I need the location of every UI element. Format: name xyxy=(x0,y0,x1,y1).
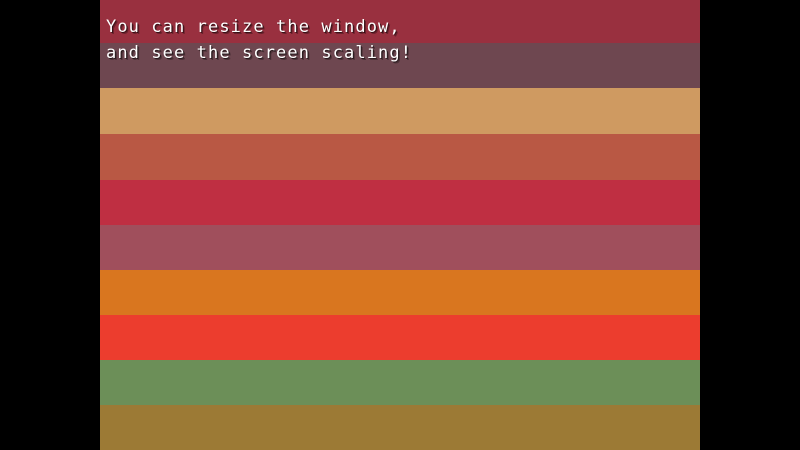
band-crimson xyxy=(100,180,700,225)
color-band-stack xyxy=(100,0,700,450)
band-olive-green xyxy=(100,360,700,405)
scaled-screen-viewport[interactable]: You can resize the window, and see the s… xyxy=(100,0,700,450)
band-red-orange xyxy=(100,315,700,360)
band-dark-red xyxy=(100,0,700,43)
band-mauve xyxy=(100,225,700,270)
letterbox-bar-left xyxy=(0,0,100,450)
letterbox-bar-right xyxy=(700,0,800,450)
band-orange xyxy=(100,270,700,315)
band-brick-red xyxy=(100,134,700,180)
app-window: You can resize the window, and see the s… xyxy=(0,0,800,450)
band-tan xyxy=(100,88,700,134)
band-plum-brown xyxy=(100,43,700,88)
band-dark-gold xyxy=(100,405,700,450)
